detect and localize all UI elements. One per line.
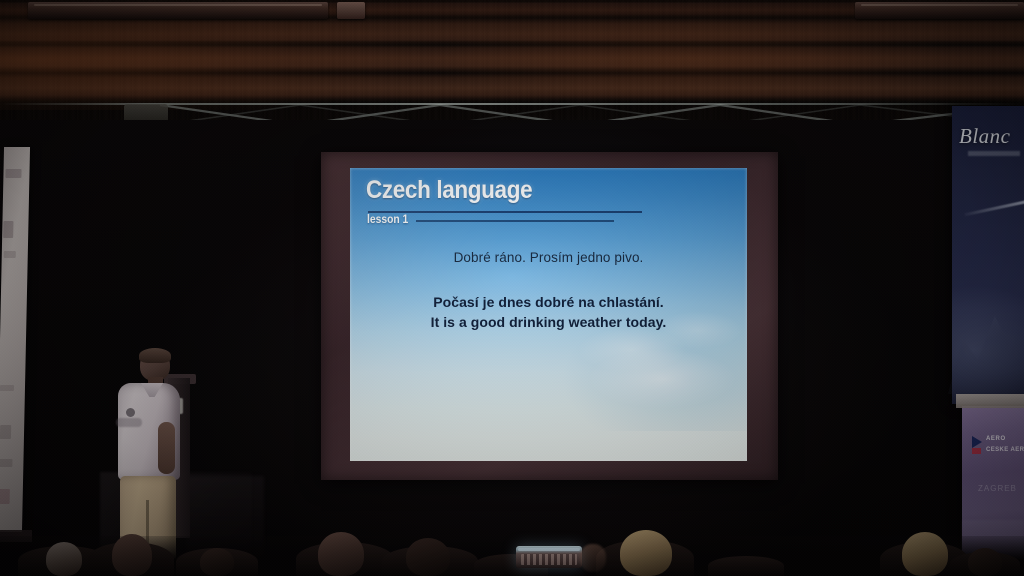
banner-mark bbox=[5, 169, 21, 178]
airline-logo-icon bbox=[972, 436, 982, 448]
banner-mark bbox=[0, 425, 11, 439]
slide-cloud bbox=[587, 349, 737, 409]
slide-title-rule-short bbox=[416, 220, 614, 222]
right-banner-subline bbox=[968, 151, 1020, 156]
audience-head bbox=[200, 548, 234, 576]
presenter-badge bbox=[126, 408, 135, 417]
right-lower-banner-header bbox=[956, 394, 1024, 408]
ceiling-pipe-bracket bbox=[337, 2, 365, 19]
slide-body-line-2: Počasí je dnes dobré na chlastání. bbox=[350, 292, 747, 312]
audience-hand bbox=[580, 544, 606, 572]
right-lower-banner-logo-line-2: CESKE AEROLINIE bbox=[986, 447, 1024, 453]
banner-mark bbox=[0, 385, 14, 391]
ceiling-pipe-right bbox=[855, 2, 1024, 19]
audience-head bbox=[318, 532, 364, 576]
banner-mark bbox=[0, 459, 12, 467]
projection-screen-frame: Czech language lesson 1 Dobré ráno. Pros… bbox=[321, 152, 778, 480]
ceiling-pipe-left bbox=[28, 2, 328, 19]
right-banner-mountain-graphic bbox=[948, 294, 1024, 394]
slide-title-rule-long bbox=[368, 211, 642, 213]
slide-body: Dobré ráno. Prosím jedno pivo. Počasí je… bbox=[350, 250, 747, 333]
slide-body-line-1: Dobré ráno. Prosím jedno pivo. bbox=[350, 250, 747, 265]
presenter-arm bbox=[158, 422, 175, 474]
audience-shoulders bbox=[708, 556, 784, 576]
slide-title: Czech language bbox=[366, 178, 532, 203]
audience-phone-screen[interactable] bbox=[516, 546, 582, 568]
presenter-hair bbox=[139, 348, 171, 363]
audience-head bbox=[902, 532, 948, 576]
audience-head bbox=[620, 530, 672, 576]
right-banner-light-streak bbox=[964, 199, 1024, 216]
audience-head bbox=[968, 548, 1002, 576]
right-lower-banner-caption: ZAGREB bbox=[978, 484, 1017, 493]
right-banner-script-text: Blanc bbox=[959, 124, 1010, 149]
phone-screen-content bbox=[521, 554, 577, 565]
banner-mark bbox=[3, 221, 13, 238]
slide-body-spacer bbox=[350, 265, 747, 292]
audience-head bbox=[46, 542, 82, 576]
slide-body-line-3: It is a good drinking weather today. bbox=[350, 312, 747, 332]
banner-mark bbox=[4, 251, 16, 258]
audience-head bbox=[406, 538, 450, 576]
phone-bezel bbox=[518, 548, 580, 551]
pipe-highlight bbox=[34, 4, 322, 6]
presenter-sleeve bbox=[116, 418, 142, 427]
audience-head bbox=[112, 534, 152, 576]
presentation-slide[interactable]: Czech language lesson 1 Dobré ráno. Pros… bbox=[350, 168, 747, 461]
conference-hall-scene: Czech language lesson 1 Dobré ráno. Pros… bbox=[0, 0, 1024, 576]
pipe-highlight bbox=[861, 4, 1018, 6]
right-lower-banner-logo-line-1: AERO bbox=[986, 436, 1006, 442]
audience-silhouettes bbox=[0, 496, 1024, 576]
airline-logo-accent-icon bbox=[972, 448, 981, 454]
slide-subtitle: lesson 1 bbox=[367, 213, 408, 225]
slide-cloud bbox=[577, 327, 687, 373]
right-upper-banner: Blanc bbox=[952, 106, 1024, 404]
